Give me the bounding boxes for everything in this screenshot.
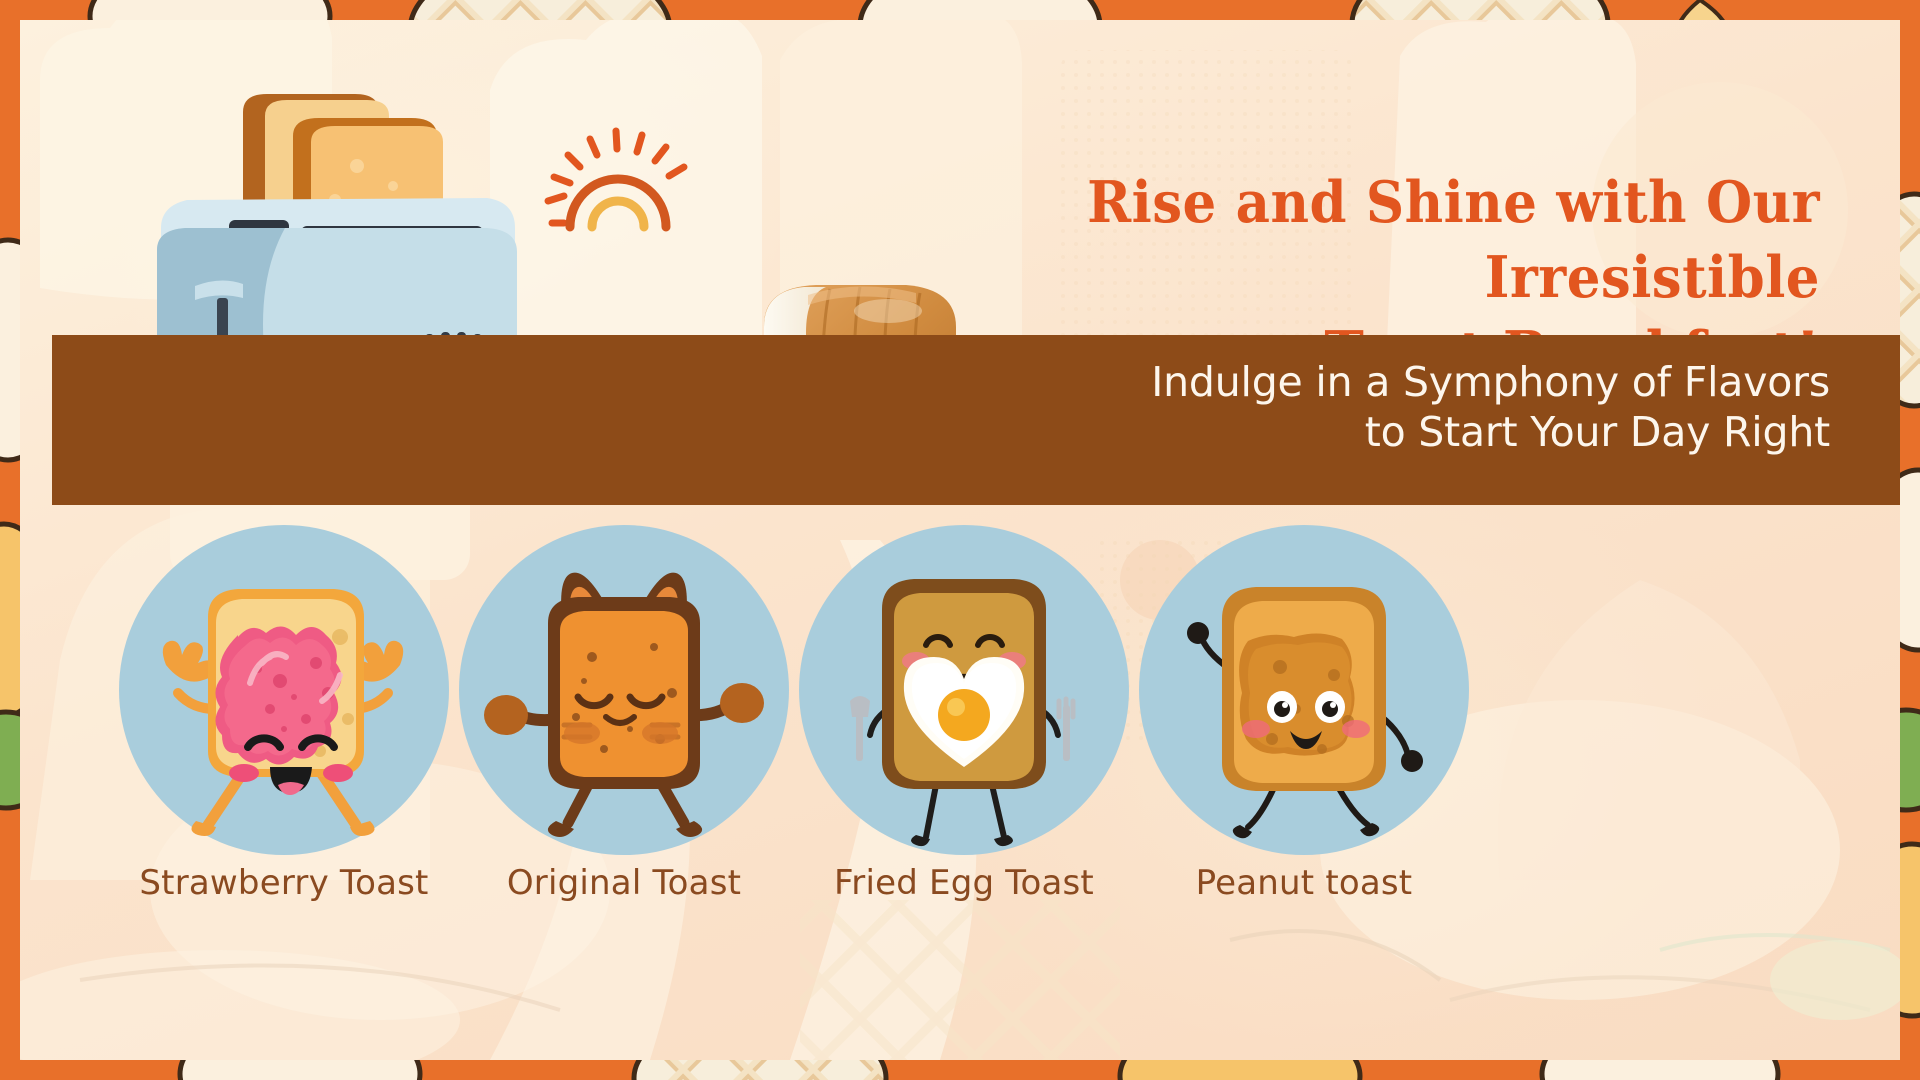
original-toast-icon (464, 533, 784, 853)
subtitle-line-1: Indulge in a Symphony of Flavors (1010, 357, 1830, 407)
peanut-toast-icon (1144, 533, 1464, 853)
product-label: Peanut toast (1094, 863, 1514, 903)
poster-canvas: Rise and Shine with Our Irresistible Toa… (0, 0, 1920, 1080)
fried-egg-toast-icon (804, 533, 1124, 853)
subtitle-line-2: to Start Your Day Right (1010, 407, 1830, 457)
sunburst-icon (540, 115, 700, 235)
subtitle: Indulge in a Symphony of Flavors to Star… (1010, 357, 1830, 457)
headline-line-1: Rise and Shine with Our Irresistible (1087, 169, 1820, 311)
product-row: Strawberry Toast (20, 525, 1900, 945)
poster-card: Rise and Shine with Our Irresistible Toa… (20, 20, 1900, 1060)
product-card-peanut-toast[interactable]: Peanut toast (1094, 525, 1514, 945)
footer: +123-456-7890 123 Anywhere St., Any City… (0, 970, 1920, 1080)
strawberry-toast-icon (124, 533, 444, 853)
